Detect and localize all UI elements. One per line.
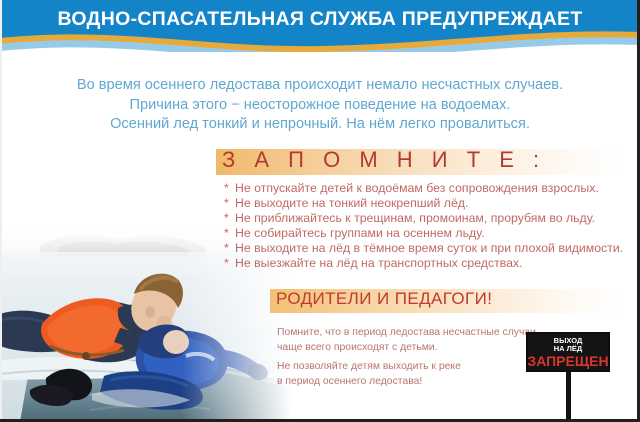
list-item: *Не выходите на тонкий неокрепший лёд. [224,196,624,211]
bullet-marker-icon: * [224,241,235,256]
remember-list: *Не отпускайте детей к водоёмам без сопр… [224,181,624,270]
bullet-marker-icon: * [224,226,235,241]
remember-heading: З А П О М Н И Т Е : [222,147,546,173]
intro-line-3: Осенний лед тонкий и непрочный. На нём л… [0,115,640,135]
safety-poster: ВОДНО-СПАСАТЕЛЬНАЯ СЛУЖБА ПРЕДУПРЕЖДАЕТ … [0,0,640,422]
sign-line-3: ЗАПРЕЩЕН [527,353,608,369]
poster-title: ВОДНО-СПАСАТЕЛЬНАЯ СЛУЖБА ПРЕДУПРЕЖДАЕТ [0,8,640,31]
list-item: *Не отпускайте детей к водоёмам без сопр… [224,181,624,196]
list-item: *Не выезжайте на лёд на транспортных сре… [224,256,624,271]
sign-line-2: НА ЛЁД [554,344,583,353]
list-item: *Не собирайтесь группами на осеннем льду… [224,226,624,241]
list-item-label: Не приближайтесь к трещинам, промоинам, … [235,211,595,225]
no-ice-entry-sign: ВЫХОД НА ЛЁД ЗАПРЕЩЕН [524,330,616,420]
list-item-label: Не собирайтесь группами на осеннем льду. [235,226,485,240]
list-item-label: Не выходите на тонкий неокрепший лёд. [235,196,468,210]
bullet-marker-icon: * [224,196,235,211]
parents-heading: РОДИТЕЛИ И ПЕДАГОГИ! [276,289,492,309]
bullet-marker-icon: * [224,256,235,271]
bullet-marker-icon: * [224,181,235,196]
list-item-label: Не выходите на лёд в тёмное время суток … [235,241,623,255]
bullet-marker-icon: * [224,211,235,226]
list-item-label: Не отпускайте детей к водоёмам без сопро… [235,181,599,195]
intro-paragraph: Во время осеннего ледостава происходит н… [0,76,640,135]
intro-line-2: Причина этого − неосторожное поведение н… [0,96,640,116]
intro-line-1: Во время осеннего ледостава происходит н… [0,76,640,96]
warning-sign-graphic: ВЫХОД НА ЛЁД ЗАПРЕЩЕН [524,330,616,420]
list-item-label: Не выезжайте на лёд на транспортных сред… [235,256,523,270]
list-item: *Не выходите на лёд в тёмное время суток… [224,241,624,256]
header-banner: ВОДНО-СПАСАТЕЛЬНАЯ СЛУЖБА ПРЕДУПРЕЖДАЕТ [0,0,640,52]
list-item: *Не приближайтесь к трещинам, промоинам,… [224,211,624,226]
